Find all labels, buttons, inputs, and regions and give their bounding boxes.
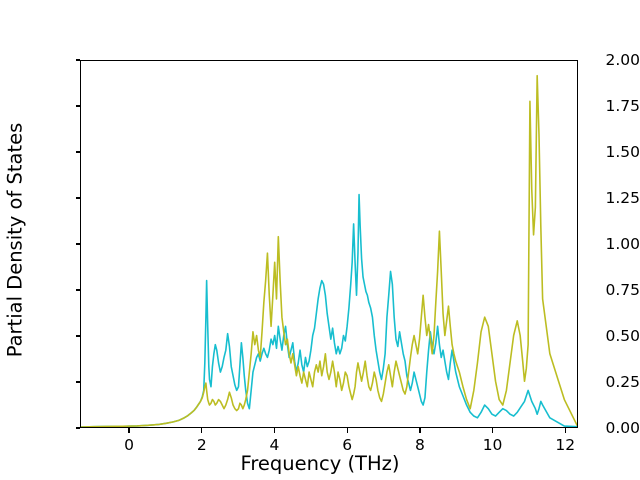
curves-group <box>81 76 577 427</box>
y-tick-mark <box>76 243 81 244</box>
y-tick-mark <box>76 59 81 60</box>
y-tick-label: 0.75 <box>570 281 640 299</box>
x-tick-mark <box>274 428 275 433</box>
y-tick-mark <box>76 289 81 290</box>
y-tick-mark <box>76 151 81 152</box>
y-tick-label: 2.00 <box>570 51 640 69</box>
x-tick-mark <box>419 428 420 433</box>
y-tick-mark <box>76 105 81 106</box>
y-tick-label: 1.75 <box>570 97 640 115</box>
x-tick-mark <box>492 428 493 433</box>
y-axis-label-container: Partial Density of States <box>0 0 30 480</box>
y-tick-mark <box>76 335 81 336</box>
y-tick-mark <box>76 427 81 428</box>
y-tick-mark <box>76 197 81 198</box>
x-tick-mark <box>347 428 348 433</box>
y-tick-label: 1.50 <box>570 143 640 161</box>
y-tick-mark <box>76 381 81 382</box>
y-tick-label: 0.50 <box>570 327 640 345</box>
x-tick-mark <box>128 428 129 433</box>
x-axis-label: Frequency (THz) <box>0 452 640 475</box>
y-tick-label: 1.00 <box>570 235 640 253</box>
y-tick-label: 1.25 <box>570 189 640 207</box>
pdos-figure: Partial Density of States 0.000.250.500.… <box>0 0 640 480</box>
plot-area <box>80 60 578 428</box>
y-axis-label: Partial Density of States <box>4 123 27 358</box>
y-tick-label: 0.25 <box>570 373 640 391</box>
series-line-series_1 <box>81 195 577 427</box>
series-line-series_2 <box>81 76 577 427</box>
y-tick-label: 0.00 <box>570 419 640 437</box>
x-tick-mark <box>201 428 202 433</box>
curves-svg <box>81 61 577 427</box>
x-tick-mark <box>565 428 566 433</box>
